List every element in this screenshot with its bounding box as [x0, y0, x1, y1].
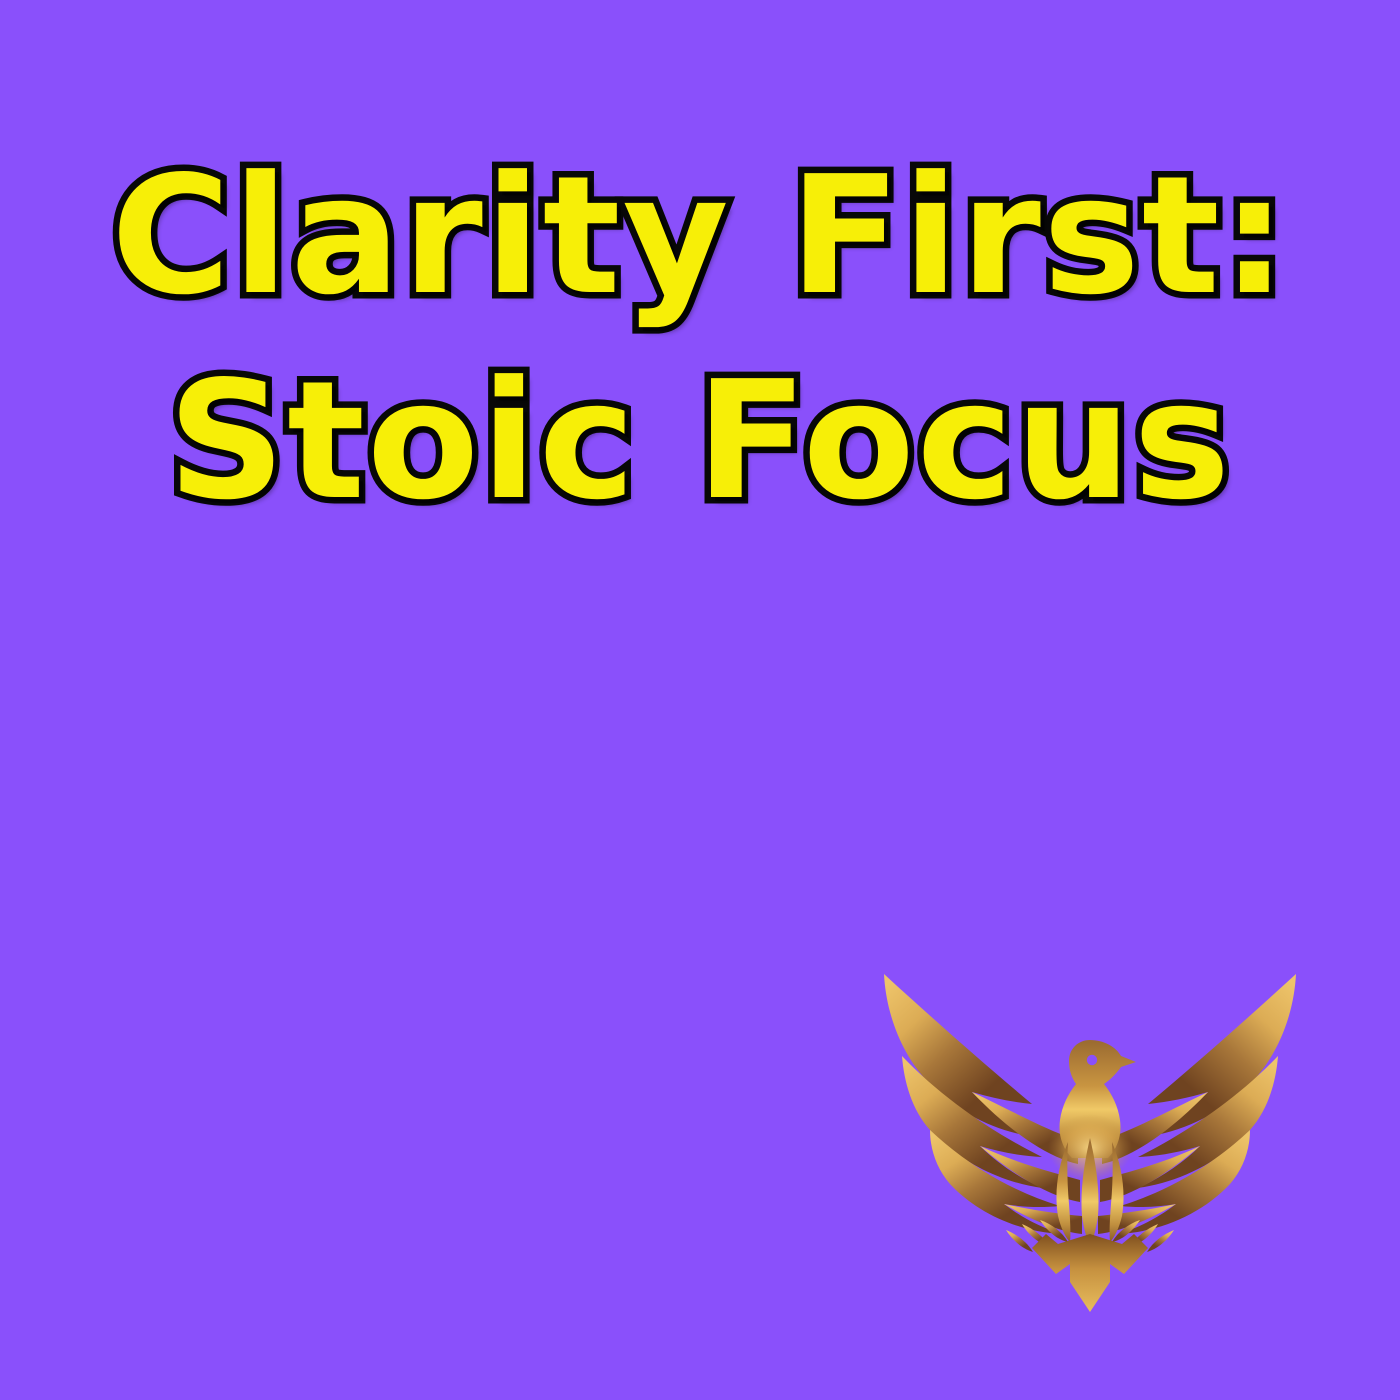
phoenix-eye: [1087, 1055, 1097, 1065]
phoenix-logo: [872, 952, 1308, 1318]
title-line-2: Stoic Focus: [0, 360, 1400, 523]
cover-art-canvas: Clarity First: Stoic Focus: [0, 0, 1400, 1400]
phoenix-tail: [1032, 1234, 1148, 1312]
page-title: Clarity First: Stoic Focus: [0, 155, 1400, 523]
title-line-1: Clarity First:: [0, 155, 1400, 318]
breast-plumes: [1056, 1138, 1123, 1246]
